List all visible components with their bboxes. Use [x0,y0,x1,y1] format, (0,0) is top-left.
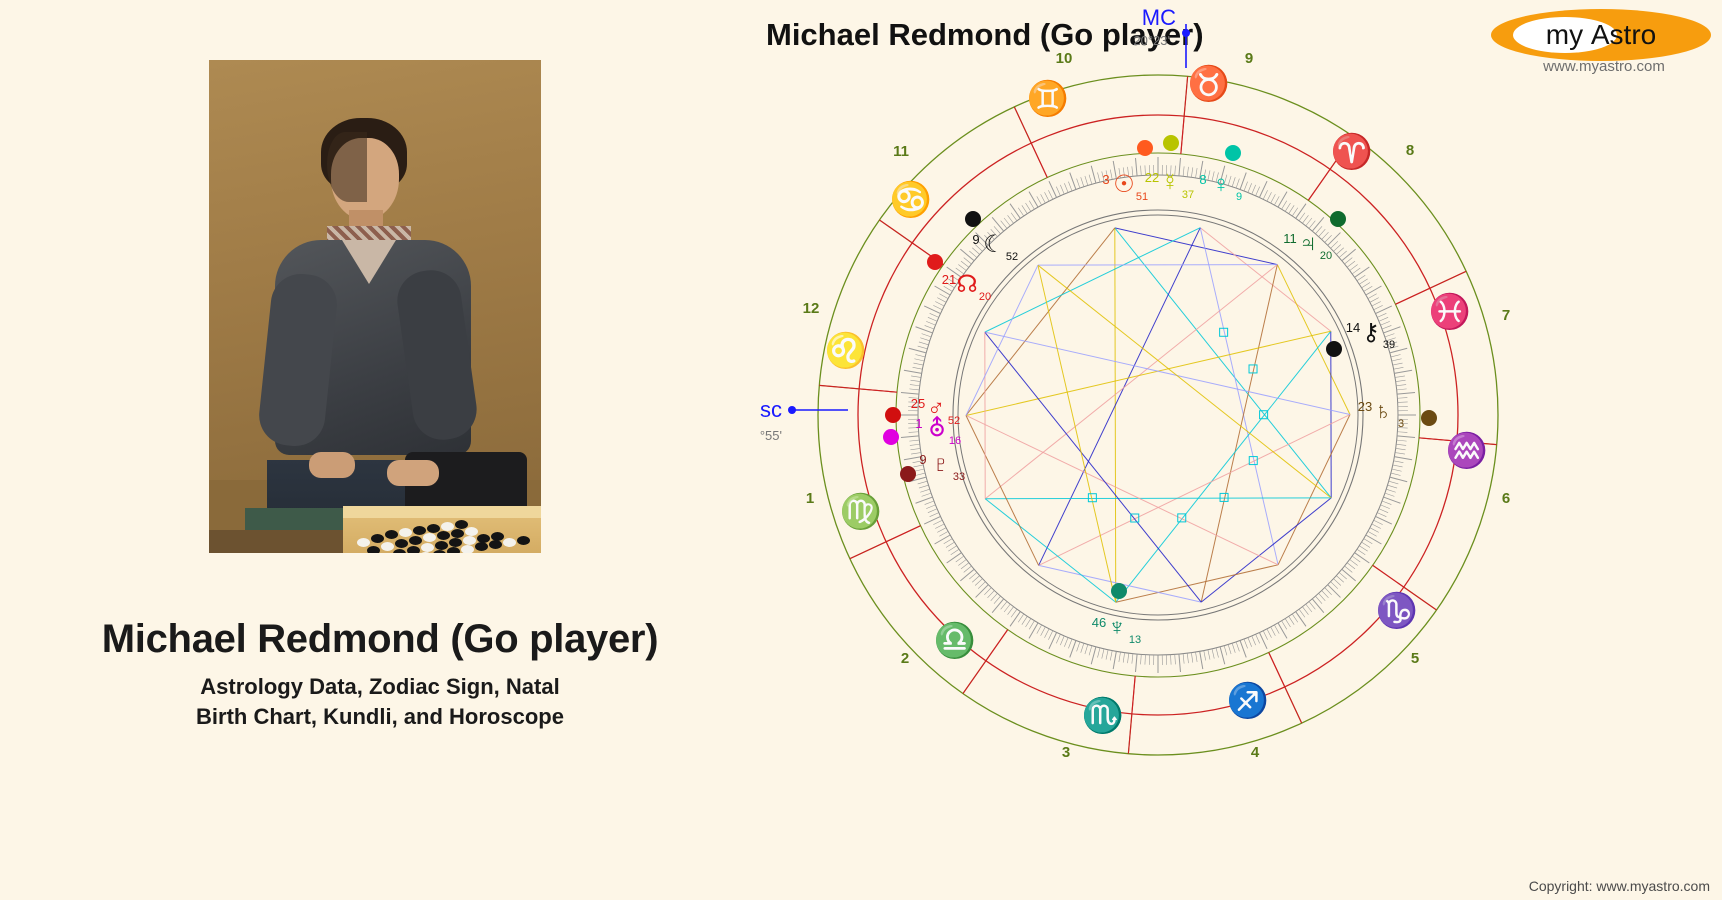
zodiac-libra: ♎ [934,621,976,660]
planet-pluto[interactable]: ♇933 [900,451,965,483]
asc-degree: 24°55' [760,428,782,443]
planet-minute-mercury: 37 [1182,189,1194,201]
planet-degree-neptune: 46 [1092,615,1106,630]
house-number-5: 5 [1411,650,1419,667]
house-number-12: 12 [803,300,820,317]
planet-neptune[interactable]: ♆4613 [1092,583,1141,646]
planet-glyph-node: ☊ [956,271,977,298]
planet-degree-jupiter: 11 [1283,231,1297,246]
planet-minute-node: 20 [979,291,991,303]
planet-degree-chiron: 14 [1346,320,1360,335]
angle-asc: Asc24°55' [760,397,848,443]
logo-word-astro: Astro [1591,19,1656,51]
mc-degree: 20°23' [1133,33,1170,48]
planet-glyph-sun: ☉ [1113,171,1135,198]
planet-glyph-moon: ☾ [983,231,1005,258]
house-number-10: 10 [1056,50,1073,67]
planet-minute-venus: 9 [1236,191,1242,203]
zodiac-aries: ♈ [1331,132,1373,171]
subtitle-line-1: Astrology Data, Zodiac Sign, Natal [0,672,760,702]
planet-degree-mars: 25 [911,396,925,411]
house-number-9: 9 [1245,50,1253,67]
planet-glyph-jupiter: ♃ [1299,230,1317,257]
planet-minute-uranus: 16 [949,435,961,447]
house-number-11: 11 [893,143,909,160]
natal-chart: ♊♉♈♓♒♑♐♏♎♍♌♋109876543211211☉351☿2237♀89☾… [760,0,1600,830]
zodiac-leo: ♌ [825,331,867,370]
house-number-6: 6 [1502,490,1510,507]
zodiac-sagittarius: ♐ [1227,681,1269,720]
house-number-3: 3 [1062,744,1070,761]
planet-glyph-neptune: ♆ [1108,614,1126,641]
planet-minute-chiron: 39 [1383,339,1395,351]
left-panel: Michael Redmond (Go player) Astrology Da… [0,0,760,900]
logo-text: my Astro [1490,8,1712,62]
planet-degree-mercury: 22 [1145,170,1159,185]
subtitle-line-2: Birth Chart, Kundli, and Horoscope [0,702,760,732]
zodiac-capricorn: ♑ [1376,591,1418,630]
planet-minute-mars: 52 [948,415,960,427]
house-number-7: 7 [1502,307,1510,324]
zodiac-pisces: ♓ [1429,292,1471,331]
planet-minute-moon: 52 [1006,251,1018,263]
planet-degree-moon: 9 [972,232,979,247]
planet-minute-jupiter: 20 [1320,250,1332,262]
page-title: Michael Redmond (Go player) [0,617,760,662]
person-photo [209,60,541,553]
planet-node[interactable]: ☊2120 [927,254,991,303]
planet-glyph-pluto: ♇ [932,451,950,478]
zodiac-gemini: ♊ [1027,79,1069,118]
planet-glyph-saturn: ♄ [1374,398,1392,425]
page-root: Michael Redmond (Go player) Astrology Da… [0,0,1722,900]
planet-minute-saturn: 3 [1398,418,1404,430]
planet-degree-node: 21 [942,272,956,287]
planet-degree-uranus: 1 [915,416,922,431]
house-number-4: 4 [1251,744,1260,761]
zodiac-taurus: ♉ [1188,64,1230,103]
house-number-1: 1 [806,490,814,507]
copyright-text: Copyright: www.myastro.com [1529,878,1710,894]
logo-word-my: my [1546,19,1583,51]
planet-glyph-mercury: ☿ [1161,169,1179,196]
zodiac-scorpio: ♏ [1082,696,1124,735]
planet-glyph-venus: ♀ [1212,171,1230,198]
angle-mc: MC20°23' [1133,5,1190,68]
planet-venus[interactable]: ♀89 [1199,145,1242,203]
planet-degree-venus: 8 [1199,172,1206,187]
planet-minute-neptune: 13 [1129,634,1141,646]
zodiac-cancer: ♋ [890,180,932,219]
planet-minute-sun: 51 [1136,191,1148,203]
planet-minute-pluto: 33 [953,471,965,483]
planet-degree-sun: 3 [1102,172,1109,187]
myastro-logo[interactable]: my Astro [1490,8,1712,62]
planet-glyph-uranus: ⛢ [928,415,946,442]
house-number-2: 2 [901,650,909,667]
page-subtitle: Astrology Data, Zodiac Sign, Natal Birth… [0,672,760,732]
planet-degree-saturn: 23 [1358,399,1372,414]
zodiac-aquarius: ♒ [1446,431,1488,470]
asc-label: Asc [760,397,782,422]
house-number-8: 8 [1406,142,1414,159]
planet-degree-pluto: 9 [919,452,926,467]
zodiac-virgo: ♍ [840,492,882,531]
planet-glyph-chiron: ⚷ [1362,319,1380,346]
mc-label: MC [1142,5,1176,30]
